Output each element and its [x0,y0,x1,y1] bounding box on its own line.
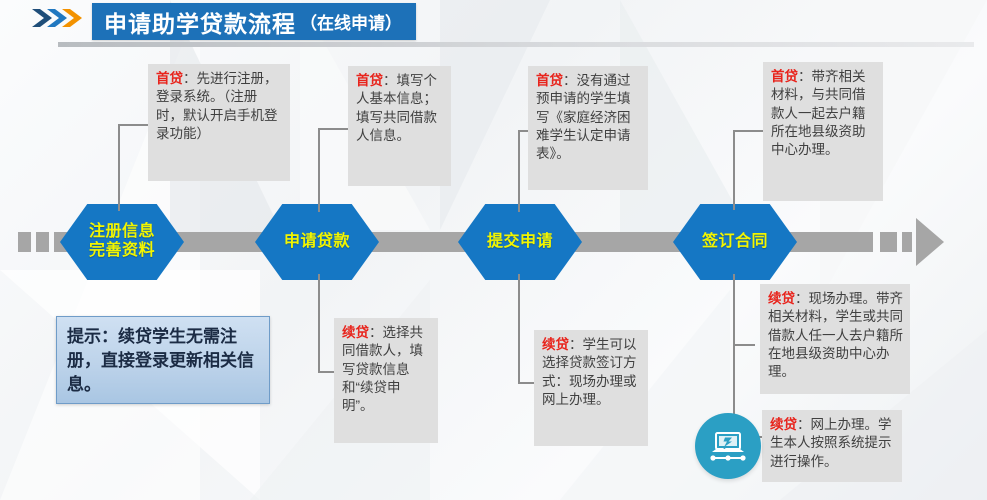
page-title: 申请助学贷款流程 [104,5,296,39]
note-first-loan-contract: 首贷：带齐相关材料，与共同借款人一起去户籍所在地县级资助中心办理。 [763,62,883,201]
flow-arrow-head-icon [916,218,944,266]
note-keyword: 续贷 [770,417,797,432]
connector-renew-apply-h [318,371,334,373]
node-register-label: 注册信息 完善资料 [60,204,184,280]
connector-contract-v [733,130,735,210]
note-renew-onsite: 续贷：现场办理。带齐相关材料，学生或共同借款人任一人去户籍所在地县级资助中心办理… [760,284,910,394]
node-submit[interactable]: 提交申请 [458,204,582,280]
node-contract[interactable]: 签订合同 [673,204,797,280]
page-title-banner: 申请助学贷款流程 （在线申请） [92,3,416,40]
connector-submit-v [518,130,520,212]
connector-renew-onsite-v [733,274,735,344]
tip-text: 提示：续贷学生无需注册，直接登录更新相关信息。 [67,327,254,394]
note-keyword: 首贷 [771,69,798,84]
header-divider [58,42,974,47]
bar-dash-1 [18,232,31,252]
node-contract-line1: 签订合同 [702,233,768,252]
node-register[interactable]: 注册信息 完善资料 [60,204,184,280]
laptop-icon [695,413,761,479]
note-keyword: 续贷 [542,337,569,352]
note-first-loan-submit: 首贷：没有通过预申请的学生填写《家庭经济困难学生认定申请表》。 [528,66,648,190]
node-apply-line1: 申请贷款 [284,233,350,252]
connector-renew-submit-h [518,382,534,384]
tip-renew-students: 提示：续贷学生无需注册，直接登录更新相关信息。 [56,316,270,404]
note-first-loan-apply: 首贷：填写个人基本信息；填写共同借款人信息。 [348,66,451,186]
bar-segment-4 [790,232,873,252]
connector-apply-v [318,128,320,212]
page-subtitle: （在线申请） [300,9,402,34]
note-keyword: 首贷 [156,71,183,86]
note-renew-apply: 续贷：选择共同借款人，填写贷款信息和“续贷申明”。 [334,318,438,443]
note-keyword: 首贷 [536,73,563,88]
note-renew-online: 续贷：网上办理。学生本人按照系统提示进行操作。 [762,410,902,482]
bar-segment-3 [575,232,685,252]
connector-renew-onsite-h [733,344,755,346]
node-contract-label: 签订合同 [673,204,797,280]
double-chevron-right-icon [30,5,84,31]
node-submit-line1: 提交申请 [487,233,553,252]
connector-register-h [118,124,150,126]
note-keyword: 续贷 [768,291,795,306]
note-keyword: 续贷 [342,325,369,340]
connector-apply-h [318,128,348,130]
note-first-loan-register: 首贷：先进行注册，登录系统。（注册时，默认开启手机登录功能） [148,64,290,181]
slide-canvas: 申请助学贷款流程 （在线申请） 注册信息 完善资料 申请贷款 提交申请 签订合同 [0,0,987,500]
bar-segment-2 [370,232,470,252]
note-renew-submit: 续贷：学生可以选择贷款签订方式：现场办理或网上办理。 [534,330,648,446]
node-register-line2: 完善资料 [89,242,155,261]
bar-dash-4 [880,232,897,252]
node-register-line1: 注册信息 [89,223,155,242]
connector-contract-h [733,130,763,132]
node-submit-label: 提交申请 [458,204,582,280]
bar-dash-2 [36,232,49,252]
node-apply[interactable]: 申请贷款 [255,204,379,280]
connector-register-v [118,124,120,211]
bar-dash-5 [902,232,912,252]
note-keyword: 首贷 [356,73,383,88]
node-apply-label: 申请贷款 [255,204,379,280]
connector-renew-submit-v [518,274,520,382]
connector-renew-apply-v [318,274,320,371]
